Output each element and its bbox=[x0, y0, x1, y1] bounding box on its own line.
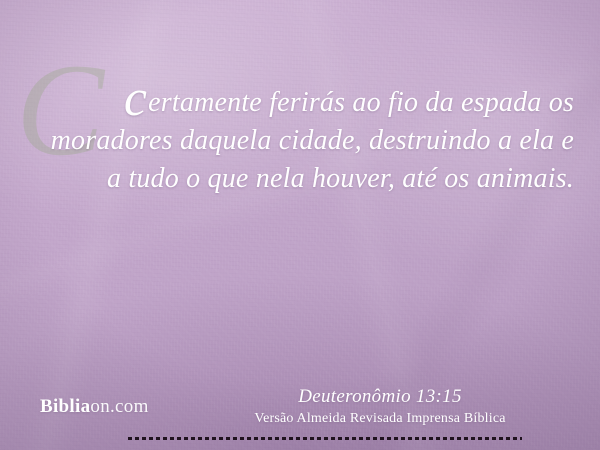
verse-text: certamente ferirás ao fio da espada os m… bbox=[44, 84, 574, 198]
logo-light-part: on.com bbox=[90, 396, 148, 417]
footer: Bibliaon.com Deuteronômio 13:15 Versão A… bbox=[0, 382, 600, 440]
logo-bold-part: Biblia bbox=[40, 396, 90, 417]
bible-version-label: Versão Almeida Revisada Imprensa Bíblica bbox=[180, 411, 580, 427]
verse-card: C certamente ferirás ao fio da espada os… bbox=[0, 0, 600, 450]
verse-dropcap: c bbox=[124, 70, 148, 127]
site-logo[interactable]: Bibliaon.com bbox=[40, 396, 149, 418]
bottom-dashed-rule bbox=[128, 437, 522, 440]
reference-block: Deuteronômio 13:15 Versão Almeida Revisa… bbox=[180, 386, 580, 427]
verse-reference: Deuteronômio 13:15 bbox=[180, 386, 580, 408]
